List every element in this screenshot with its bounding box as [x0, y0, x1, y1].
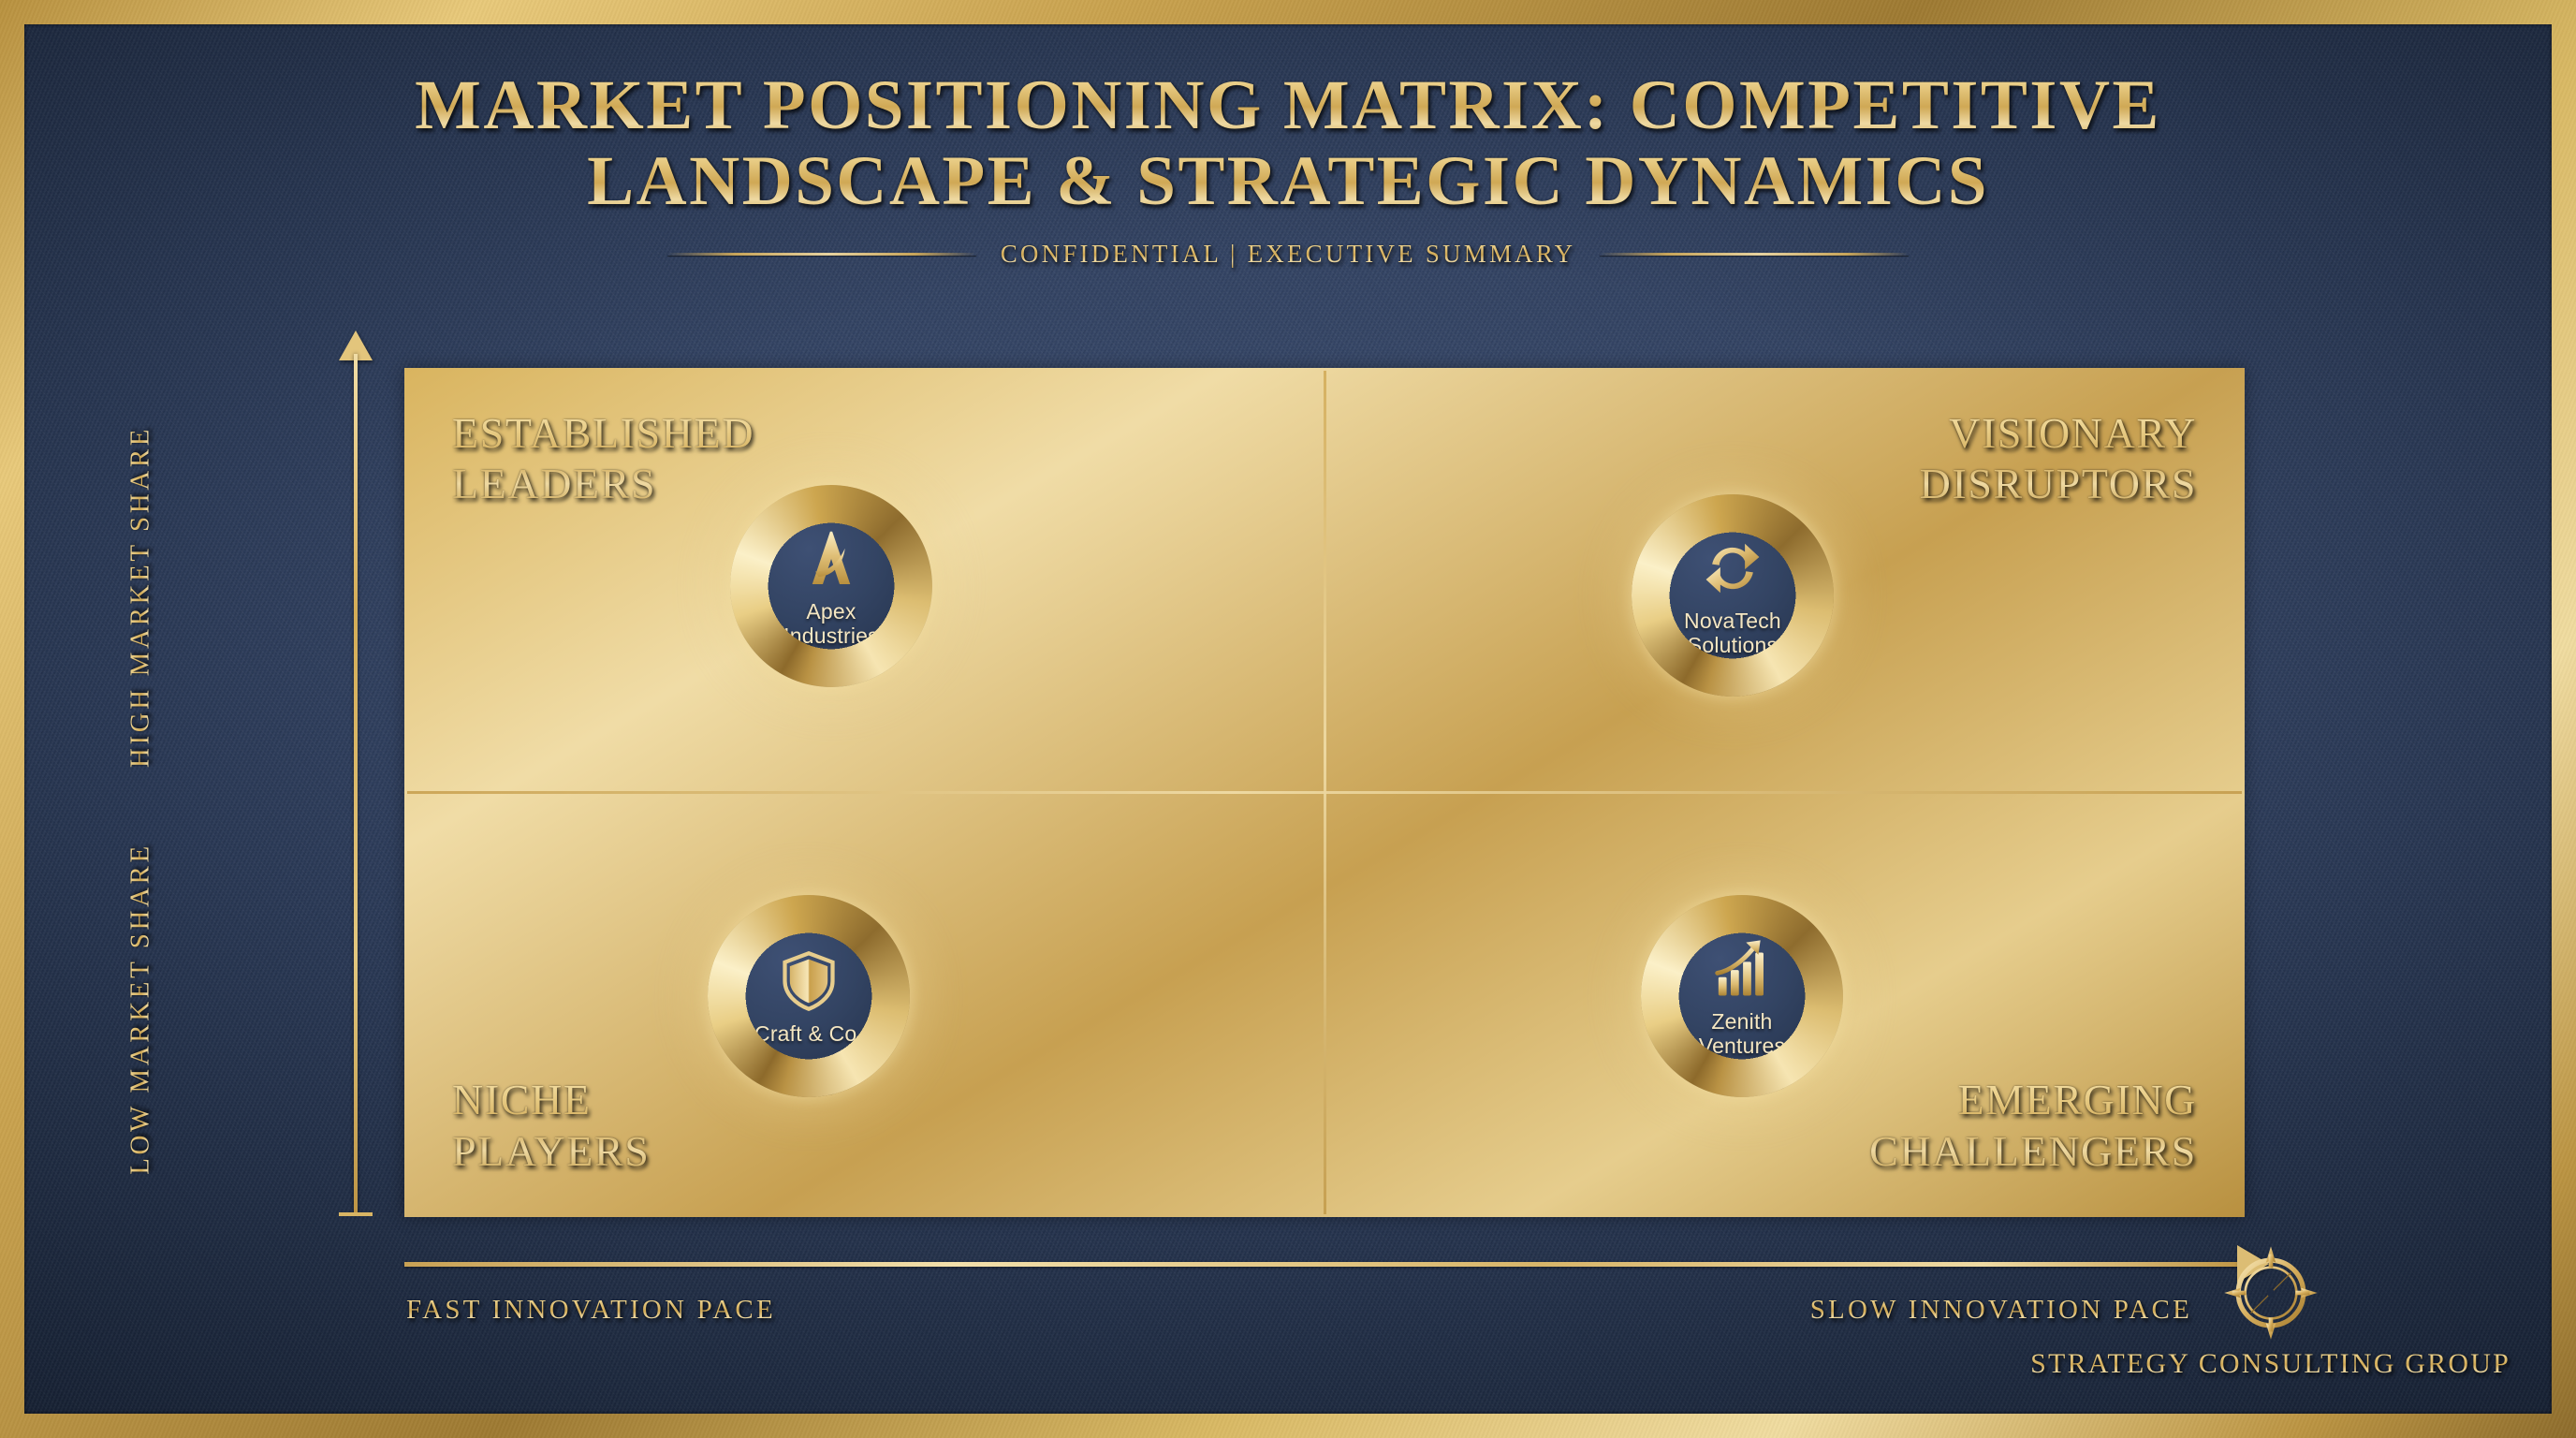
positioning-matrix: EstablishedLeaders VisionaryDisruptors N… [404, 368, 2245, 1217]
company-name: ZenithVentures [1699, 1009, 1785, 1058]
quadrant-title: VisionaryDisruptors [1920, 408, 2197, 510]
slide-canvas: Market Positioning Matrix: Competitive L… [24, 24, 2552, 1414]
x-axis-left-label: Fast Innovation Pace [406, 1295, 776, 1326]
sync-arrows-icon [1698, 534, 1767, 603]
company-badge-zenith-ventures[interactable]: ZenithVentures [1641, 895, 1843, 1097]
rule-left [667, 253, 976, 256]
y-axis-low-label: Low Market Share [125, 813, 156, 1206]
company-badge-craft-and-co[interactable]: Craft & Co. [708, 895, 910, 1097]
subtitle-row: Confidential | Executive Summary [24, 240, 2552, 269]
company-badge-novatech-solutions[interactable]: NovaTechSolutions [1632, 494, 1834, 697]
growth-chart-icon [1707, 934, 1777, 1004]
shield-icon [774, 946, 843, 1016]
subtitle: Confidential | Executive Summary [1001, 240, 1576, 269]
company-name: Craft & Co. [754, 1021, 863, 1046]
quadrant-title: NichePlayers [452, 1075, 650, 1177]
brand-footer: Strategy Consulting Group [2030, 1243, 2510, 1380]
page-title-line-2: Landscape & Strategic Dynamics [24, 143, 2552, 219]
header: Market Positioning Matrix: Competitive L… [24, 67, 2552, 269]
page-title-line-1: Market Positioning Matrix: Competitive [24, 67, 2552, 143]
slide-root: Market Positioning Matrix: Competitive L… [0, 0, 2576, 1438]
brand-name: Strategy Consulting Group [2030, 1348, 2510, 1380]
company-name: NovaTechSolutions [1684, 609, 1781, 657]
x-axis-line [404, 1262, 2239, 1267]
y-axis-line [354, 354, 358, 1215]
company-name: ApexIndustries [783, 599, 879, 648]
quadrant-title: EstablishedLeaders [452, 408, 754, 510]
rule-right [1600, 253, 1909, 256]
y-axis-baseline-tick [339, 1212, 373, 1216]
company-badge-apex-industries[interactable]: ApexIndustries [730, 485, 932, 687]
compass-rose-icon [2221, 1243, 2320, 1343]
y-axis-high-label: High Market Share [125, 401, 156, 794]
quadrant-title: EmergingChallengers [1869, 1075, 2197, 1177]
letter-a-swoosh-icon [797, 524, 866, 594]
